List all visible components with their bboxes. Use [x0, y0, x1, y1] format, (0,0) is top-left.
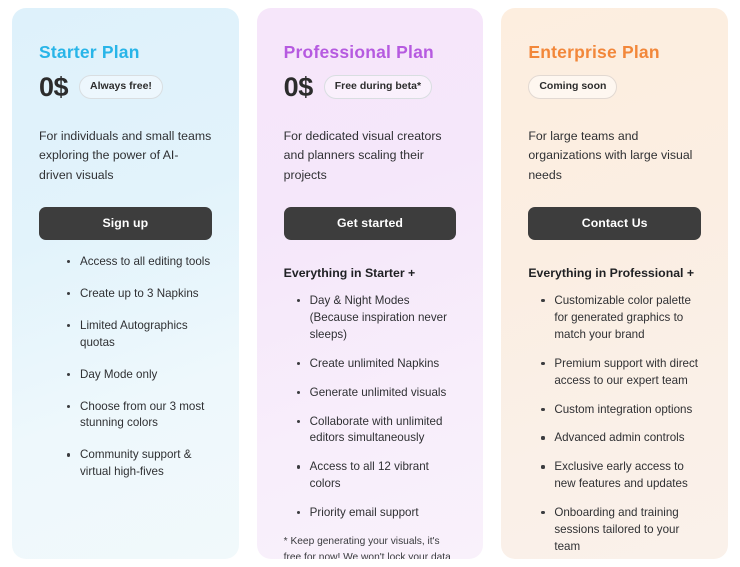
- list-item: Exclusive early access to new features a…: [554, 459, 701, 493]
- plan-description-professional: For dedicated visual creators and planne…: [284, 127, 457, 185]
- list-item: Premium support with direct access to ou…: [554, 356, 701, 390]
- list-item: Create up to 3 Napkins: [80, 286, 212, 303]
- footnote-professional: * Keep generating your visuals, it's fre…: [284, 534, 457, 559]
- list-item: Advanced admin controls: [554, 430, 701, 447]
- list-item: Priority email support: [310, 505, 457, 522]
- plan-badge-professional: Free during beta*: [324, 75, 432, 99]
- price-row-enterprise: Coming soon: [528, 72, 701, 102]
- plan-description-starter: For individuals and small teams explorin…: [39, 127, 212, 185]
- plan-badge-enterprise: Coming soon: [528, 75, 617, 99]
- plan-title-enterprise: Enterprise Plan: [528, 42, 701, 63]
- list-item: Customizable color palette for generated…: [554, 293, 701, 344]
- plan-price-starter: 0$: [39, 74, 68, 101]
- plan-title-starter: Starter Plan: [39, 42, 212, 63]
- list-item: Access to all 12 vibrant colors: [310, 459, 457, 493]
- list-item: Custom integration options: [554, 402, 701, 419]
- plan-description-enterprise: For large teams and organizations with l…: [528, 127, 701, 185]
- pricing-page: Starter Plan 0$ Always free! For individ…: [0, 0, 740, 567]
- features-heading-enterprise: Everything in Professional +: [528, 266, 701, 280]
- list-item: Day & Night Modes (Because inspiration n…: [310, 293, 457, 344]
- pricing-card-professional: Professional Plan 0$ Free during beta* F…: [257, 8, 484, 559]
- pricing-card-enterprise: Enterprise Plan Coming soon For large te…: [501, 8, 728, 559]
- pricing-card-starter: Starter Plan 0$ Always free! For individ…: [12, 8, 239, 559]
- features-heading-professional: Everything in Starter +: [284, 266, 457, 280]
- list-item: Access to all editing tools: [80, 254, 212, 271]
- plan-badge-starter: Always free!: [79, 75, 163, 99]
- price-row-starter: 0$ Always free!: [39, 72, 212, 102]
- price-row-professional: 0$ Free during beta*: [284, 72, 457, 102]
- list-item: Onboarding and training sessions tailore…: [554, 505, 701, 556]
- plan-title-professional: Professional Plan: [284, 42, 457, 63]
- feature-list-enterprise: Customizable color palette for generated…: [528, 293, 701, 556]
- list-item: Collaborate with unlimited editors simul…: [310, 414, 457, 448]
- list-item: Community support & virtual high-fives: [80, 447, 212, 481]
- list-item: Create unlimited Napkins: [310, 356, 457, 373]
- list-item: Generate unlimited visuals: [310, 385, 457, 402]
- signup-button[interactable]: Sign up: [39, 207, 212, 240]
- list-item: Limited Autographics quotas: [80, 318, 212, 352]
- get-started-button[interactable]: Get started: [284, 207, 457, 240]
- list-item: Day Mode only: [80, 367, 212, 384]
- feature-list-starter: Access to all editing tools Create up to…: [39, 254, 212, 481]
- pricing-cards-container: Starter Plan 0$ Always free! For individ…: [0, 0, 740, 567]
- contact-us-button[interactable]: Contact Us: [528, 207, 701, 240]
- list-item: Choose from our 3 most stunning colors: [80, 399, 212, 433]
- feature-list-professional: Day & Night Modes (Because inspiration n…: [284, 293, 457, 522]
- plan-price-professional: 0$: [284, 74, 313, 101]
